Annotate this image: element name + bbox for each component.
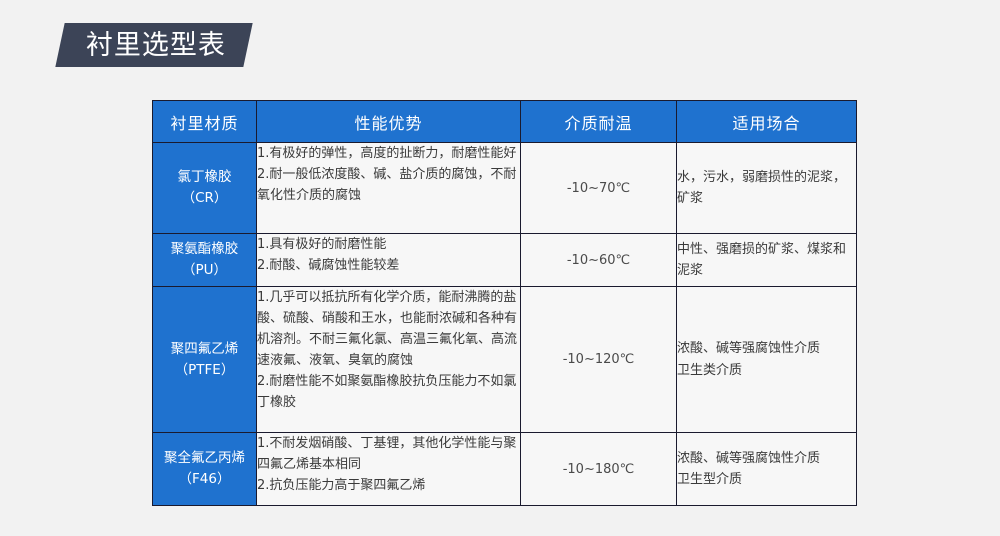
cell-application: 浓酸、碱等强腐蚀性介质 卫生类介质 bbox=[677, 287, 857, 433]
table-header: 衬里材质 性能优势 介质耐温 适用场合 bbox=[153, 101, 857, 143]
table-body: 氯丁橡胶 （CR） 1.有极好的弹性，高度的扯断力，耐磨性能好 2.耐一般低浓度… bbox=[153, 143, 857, 506]
material-name: 聚全氟乙丙烯 bbox=[153, 448, 256, 469]
cell-material: 氯丁橡胶 （CR） bbox=[153, 143, 257, 234]
cell-material: 聚四氟乙烯 （PTFE） bbox=[153, 287, 257, 433]
cell-performance: 1.不耐发烟硝酸、丁基锂，其他化学性能与聚四氟乙烯基本相同 2.抗负压能力高于聚… bbox=[257, 433, 521, 506]
cell-temperature: -10~60℃ bbox=[521, 234, 677, 287]
cell-material: 聚氨酯橡胶 （PU） bbox=[153, 234, 257, 287]
page-title-banner: 衬里选型表 bbox=[55, 23, 252, 67]
cell-performance: 1.具有极好的耐磨性能 2.耐酸、碱腐蚀性能较差 bbox=[257, 234, 521, 287]
table-row: 聚氨酯橡胶 （PU） 1.具有极好的耐磨性能 2.耐酸、碱腐蚀性能较差 -10~… bbox=[153, 234, 857, 287]
material-name: 聚氨酯橡胶 bbox=[153, 239, 256, 260]
column-header-performance: 性能优势 bbox=[257, 101, 521, 143]
lining-selection-table-container: 衬里材质 性能优势 介质耐温 适用场合 氯丁橡胶 （CR） 1.有极好的弹性，高… bbox=[152, 100, 856, 506]
cell-performance: 1.有极好的弹性，高度的扯断力，耐磨性能好 2.耐一般低浓度酸、碱、盐介质的腐蚀… bbox=[257, 143, 521, 234]
material-abbreviation: （PTFE） bbox=[153, 360, 256, 381]
material-name: 氯丁橡胶 bbox=[153, 167, 256, 188]
cell-performance: 1.几乎可以抵抗所有化学介质，能耐沸腾的盐酸、硫酸、硝酸和王水，也能耐浓碱和各种… bbox=[257, 287, 521, 433]
column-header-material: 衬里材质 bbox=[153, 101, 257, 143]
cell-temperature: -10~180℃ bbox=[521, 433, 677, 506]
material-abbreviation: （PU） bbox=[153, 260, 256, 281]
cell-application: 浓酸、碱等强腐蚀性介质 卫生型介质 bbox=[677, 433, 857, 506]
material-abbreviation: （F46） bbox=[153, 469, 256, 490]
lining-selection-table: 衬里材质 性能优势 介质耐温 适用场合 氯丁橡胶 （CR） 1.有极好的弹性，高… bbox=[152, 100, 857, 506]
table-row: 聚全氟乙丙烯 （F46） 1.不耐发烟硝酸、丁基锂，其他化学性能与聚四氟乙烯基本… bbox=[153, 433, 857, 506]
page-title: 衬里选型表 bbox=[86, 32, 226, 59]
column-header-application: 适用场合 bbox=[677, 101, 857, 143]
cell-application: 中性、强磨损的矿浆、煤浆和泥浆 bbox=[677, 234, 857, 287]
cell-application: 水，污水，弱磨损性的泥浆，矿浆 bbox=[677, 143, 857, 234]
material-name: 聚四氟乙烯 bbox=[153, 339, 256, 360]
material-abbreviation: （CR） bbox=[153, 188, 256, 209]
table-header-row: 衬里材质 性能优势 介质耐温 适用场合 bbox=[153, 101, 857, 143]
column-header-temperature: 介质耐温 bbox=[521, 101, 677, 143]
table-row: 氯丁橡胶 （CR） 1.有极好的弹性，高度的扯断力，耐磨性能好 2.耐一般低浓度… bbox=[153, 143, 857, 234]
cell-temperature: -10~120℃ bbox=[521, 287, 677, 433]
table-row: 聚四氟乙烯 （PTFE） 1.几乎可以抵抗所有化学介质，能耐沸腾的盐酸、硫酸、硝… bbox=[153, 287, 857, 433]
cell-temperature: -10~70℃ bbox=[521, 143, 677, 234]
cell-material: 聚全氟乙丙烯 （F46） bbox=[153, 433, 257, 506]
